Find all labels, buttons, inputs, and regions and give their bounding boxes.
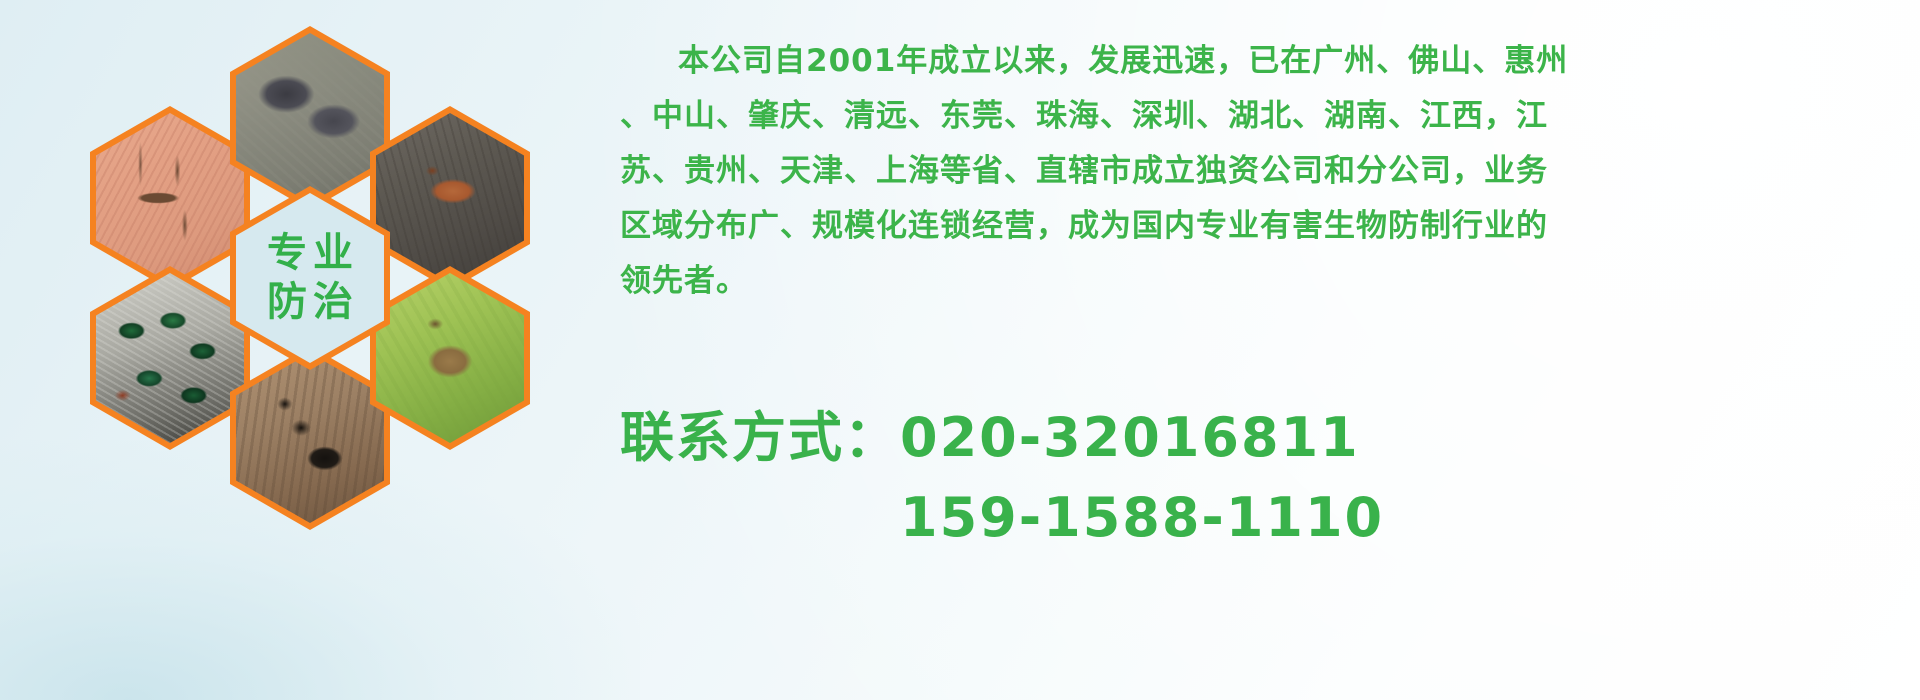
slogan-hexagon-inner: 专业 防治: [236, 193, 384, 363]
slogan-hexagon: 专业 防治: [230, 186, 390, 370]
description-line-4: 区域分布广、规模化连锁经营，成为国内专业有害生物防制行业的: [620, 199, 1880, 254]
cockroach-photo: [370, 106, 530, 290]
mosquito-photo-image: [96, 113, 244, 283]
contact-info: 联系方式：020-32016811 159-1588-1110: [620, 398, 1900, 558]
stinkbug-photo-image: [376, 273, 524, 443]
description-line-2: 、中山、肇庆、清远、东莞、珠海、深圳、湖北、湖南、江西，江: [620, 89, 1880, 144]
hex-photo-cluster: 专业 防治: [90, 10, 590, 550]
cockroach-photo-image: [376, 113, 524, 283]
company-description: 本公司自2001年成立以来，发展迅速，已在广州、佛山、惠州 、中山、肇庆、清远、…: [620, 34, 1880, 309]
stinkbug-photo: [370, 266, 530, 450]
description-line-3: 苏、贵州、天津、上海等省、直辖市成立独资公司和分公司，业务: [620, 144, 1880, 199]
fly-photo: [90, 266, 250, 450]
contact-phone-secondary[interactable]: 159-1588-1110: [620, 478, 1900, 558]
ant-photo: [230, 346, 390, 530]
description-line-1: 本公司自2001年成立以来，发展迅速，已在广州、佛山、惠州: [620, 34, 1880, 89]
description-line-5: 领先者。: [620, 254, 1880, 309]
slogan-line-2: 防治: [261, 278, 359, 327]
promo-banner: 专业 防治 本公司自2001年成立以来，发展迅速，已在广州、佛山、惠州 、中山、…: [0, 0, 1920, 700]
contact-phone-primary[interactable]: 联系方式：020-32016811: [620, 398, 1900, 478]
slogan-line-1: 专业: [261, 229, 359, 278]
rodent-photo-image: [236, 33, 384, 203]
ant-photo-image: [236, 353, 384, 523]
mosquito-photo: [90, 106, 250, 290]
rodent-photo: [230, 26, 390, 210]
fly-photo-image: [96, 273, 244, 443]
